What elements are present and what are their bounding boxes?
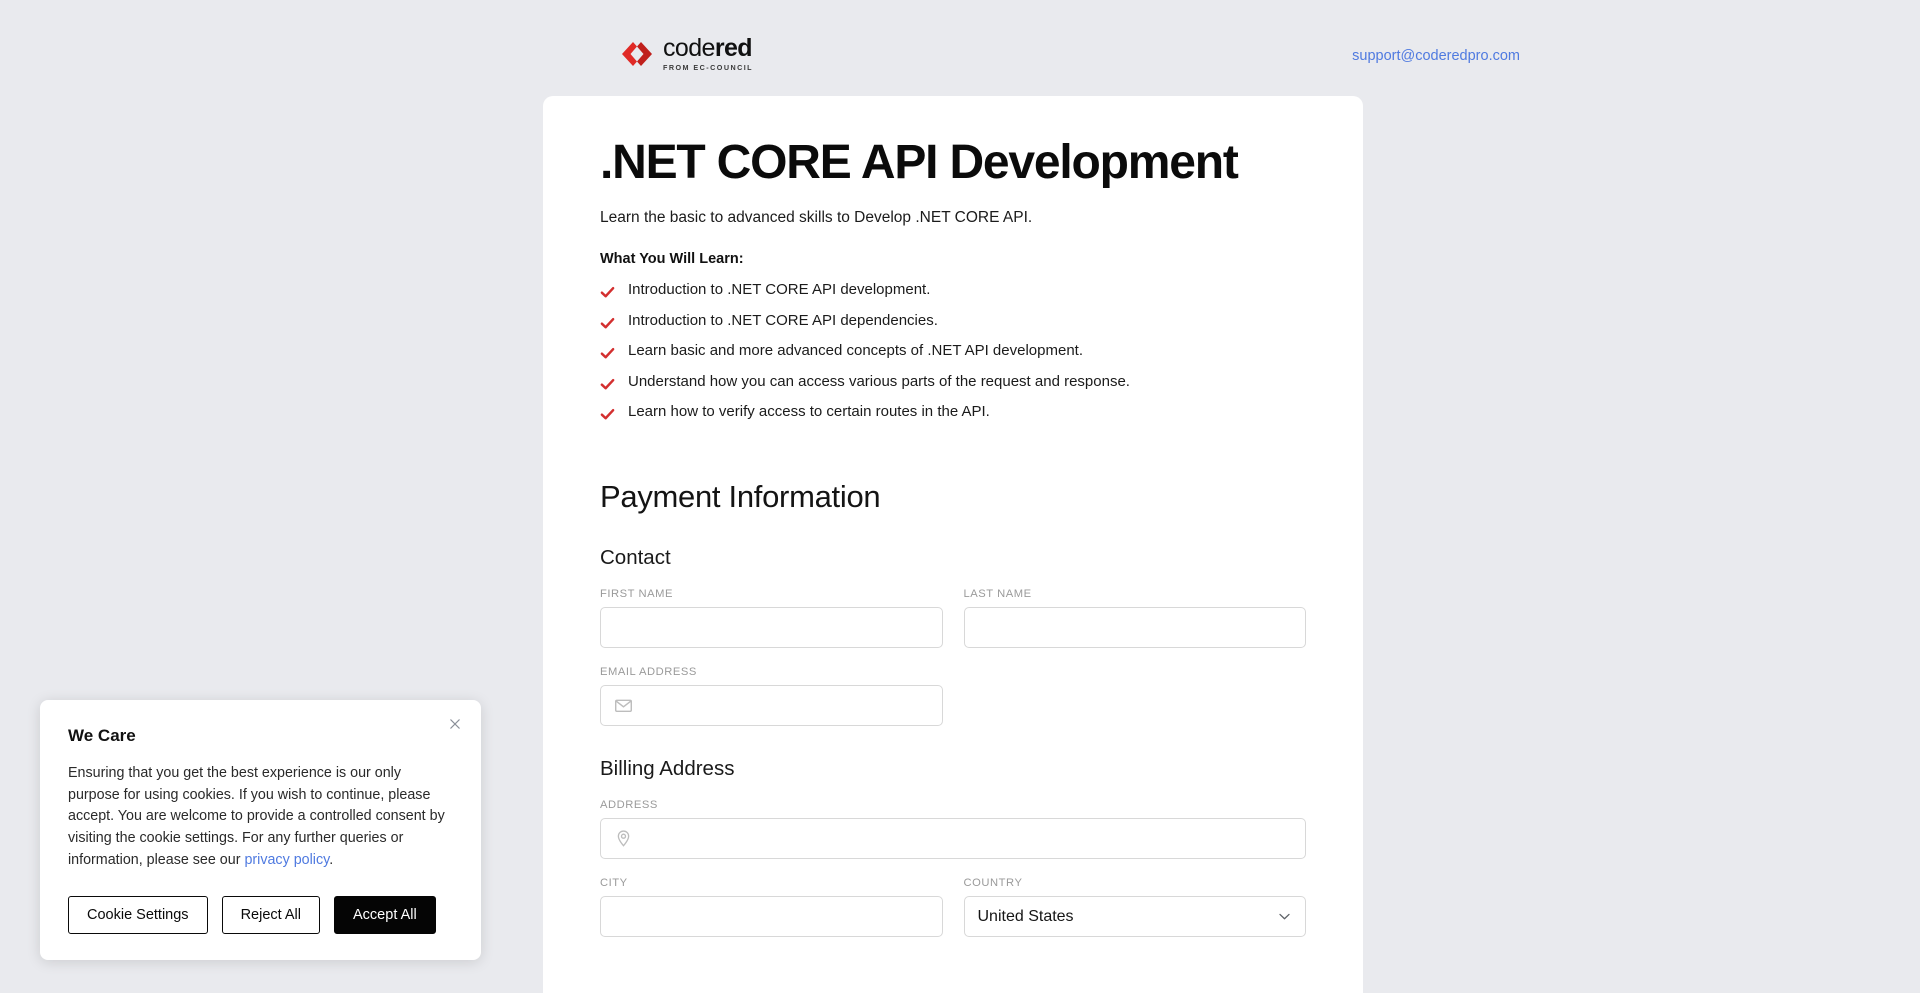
address-label: ADDRESS (600, 799, 1306, 811)
name-field-row: FIRST NAME LAST NAME (600, 588, 1306, 648)
list-item-label: Introduction to .NET CORE API dependenci… (628, 312, 938, 331)
check-icon (600, 346, 615, 361)
reject-all-button[interactable]: Reject All (222, 896, 320, 935)
site-header: codered FROM EC-COUNCIL support@coderedp… (0, 0, 1920, 96)
email-field-row: EMAIL ADDRESS (600, 666, 1306, 726)
page-root: codered FROM EC-COUNCIL support@coderedp… (0, 0, 1920, 993)
billing-address-title: Billing Address (600, 757, 1306, 781)
city-input[interactable] (614, 897, 929, 936)
check-icon (600, 316, 615, 331)
address-input-wrapper[interactable] (600, 818, 1306, 859)
cookie-consent-dialog: We Care Ensuring that you get the best e… (40, 700, 481, 960)
logo-wordmark: codered (663, 36, 753, 61)
address-field-group: ADDRESS (600, 799, 1306, 859)
contact-section-title: Contact (600, 546, 1306, 570)
list-item-label: Learn how to verify access to certain ro… (628, 403, 990, 422)
list-item: Understand how you can access various pa… (600, 373, 1306, 392)
first-name-field-group: FIRST NAME (600, 588, 943, 648)
logo-text: codered FROM EC-COUNCIL (663, 36, 753, 71)
list-item: Learn how to verify access to certain ro… (600, 403, 1306, 422)
logo-tagline: FROM EC-COUNCIL (663, 64, 753, 71)
city-field-group: CITY (600, 877, 943, 937)
list-item: Introduction to .NET CORE API dependenci… (600, 312, 1306, 331)
country-label: COUNTRY (964, 877, 1307, 889)
logo-word-red: red (715, 34, 752, 62)
country-select-value: United States (978, 908, 1074, 926)
list-item: Learn basic and more advanced concepts o… (600, 342, 1306, 361)
list-item-label: Introduction to .NET CORE API developmen… (628, 281, 930, 300)
close-icon-glyph (448, 717, 462, 731)
last-name-label: LAST NAME (964, 588, 1307, 600)
accept-all-button[interactable]: Accept All (334, 896, 436, 935)
check-icon (600, 377, 615, 392)
first-name-input[interactable] (614, 608, 929, 647)
cookie-settings-button[interactable]: Cookie Settings (68, 896, 208, 935)
email-input[interactable] (642, 686, 929, 725)
list-item-label: Learn basic and more advanced concepts o… (628, 342, 1083, 361)
cookie-dialog-body: Ensuring that you get the best experienc… (68, 763, 453, 872)
support-email-link[interactable]: support@coderedpro.com (1352, 48, 1520, 64)
list-item-label: Understand how you can access various pa… (628, 373, 1130, 392)
city-label: CITY (600, 877, 943, 889)
page-title: .NET CORE API Development (600, 136, 1306, 190)
content-card: .NET CORE API Development Learn the basi… (543, 96, 1363, 993)
cookie-dialog-actions: Cookie Settings Reject All Accept All (68, 896, 453, 935)
last-name-input-wrapper[interactable] (964, 607, 1307, 648)
chevron-down-icon (1277, 909, 1292, 924)
privacy-policy-link[interactable]: privacy policy (244, 852, 329, 868)
learn-list: Introduction to .NET CORE API developmen… (600, 281, 1306, 422)
codered-logo[interactable]: codered FROM EC-COUNCIL (620, 36, 753, 71)
first-name-input-wrapper[interactable] (600, 607, 943, 648)
payment-information-title: Payment Information (600, 479, 1306, 515)
email-label: EMAIL ADDRESS (600, 666, 943, 678)
address-input[interactable] (642, 819, 1292, 858)
first-name-label: FIRST NAME (600, 588, 943, 600)
close-icon[interactable] (445, 714, 465, 734)
envelope-icon (614, 696, 633, 715)
city-input-wrapper[interactable] (600, 896, 943, 937)
email-input-wrapper[interactable] (600, 685, 943, 726)
logo-word-code: code (663, 34, 715, 62)
country-field-group: COUNTRY United States (964, 877, 1307, 937)
check-icon (600, 407, 615, 422)
list-item: Introduction to .NET CORE API developmen… (600, 281, 1306, 300)
cookie-body-text-end: . (329, 852, 333, 868)
cookie-dialog-title: We Care (68, 726, 453, 746)
check-icon (600, 285, 615, 300)
email-field-group: EMAIL ADDRESS (600, 666, 943, 726)
last-name-input[interactable] (978, 608, 1293, 647)
country-select[interactable]: United States (964, 896, 1307, 937)
codered-diamond-icon (620, 41, 654, 67)
city-country-field-row: CITY COUNTRY United States (600, 877, 1306, 937)
course-subtitle: Learn the basic to advanced skills to De… (600, 207, 1306, 229)
last-name-field-group: LAST NAME (964, 588, 1307, 648)
map-pin-icon (614, 829, 633, 848)
what-you-will-learn-heading: What You Will Learn: (600, 251, 1306, 267)
address-field-row: ADDRESS (600, 799, 1306, 859)
